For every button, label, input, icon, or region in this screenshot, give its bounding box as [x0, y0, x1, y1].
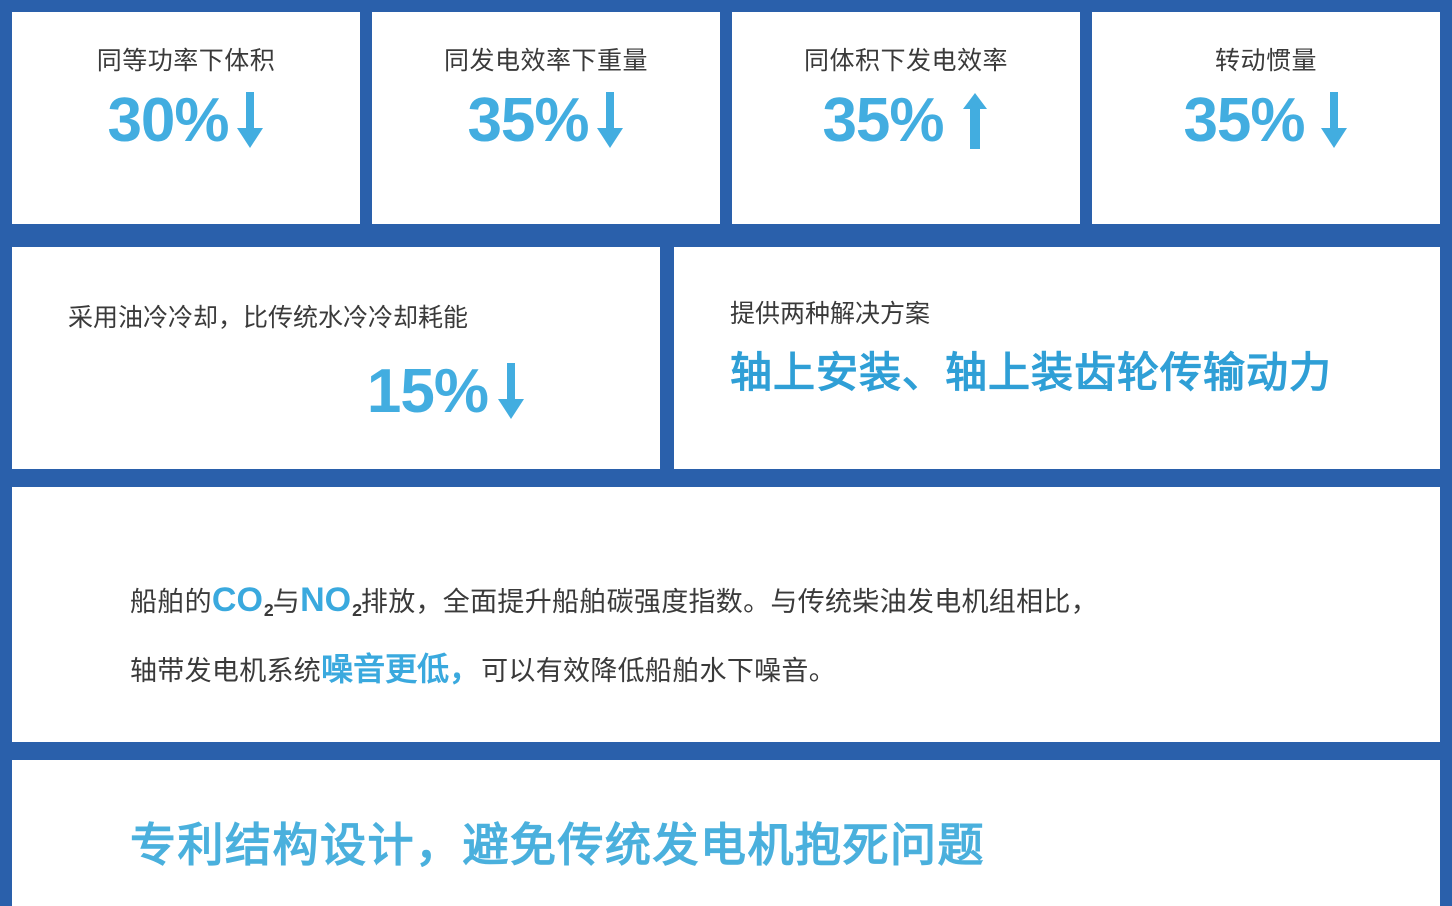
kpi-value: 35% [1183, 90, 1304, 152]
kpi-label: 转动惯量 [1215, 46, 1317, 76]
kpi-value: 35% [822, 90, 943, 152]
kpi-value: 35% [467, 90, 588, 152]
infographic-root: 同等功率下体积 30% 同发电效率下重量 35% 同体积下发电效率 35% 转动… [0, 0, 1452, 906]
kpi-value-row: 35% [467, 90, 624, 152]
kpi-label: 同发电效率下重量 [444, 46, 648, 76]
no2-formula: NO2 [300, 581, 361, 619]
arrow-up-icon [960, 90, 990, 152]
arrow-down-icon [235, 90, 265, 152]
cooling-card: 采用油冷冷却，比传统水冷冷却耗能 15% [12, 247, 660, 469]
no2-symbol: NO [300, 581, 351, 619]
paragraph-line-1: 船舶的CO2与NO2排放，全面提升船舶碳强度指数。与传统柴油发电机组相比， [130, 565, 1400, 636]
kpi-card-weight: 同发电效率下重量 35% [372, 12, 720, 224]
kpi-card-efficiency: 同体积下发电效率 35% [732, 12, 1080, 224]
kpi-label: 同等功率下体积 [97, 46, 276, 76]
paragraph-card: 船舶的CO2与NO2排放，全面提升船舶碳强度指数。与传统柴油发电机组相比， 轴带… [12, 487, 1440, 742]
kpi-card-inertia: 转动惯量 35% [1092, 12, 1440, 224]
solutions-label: 提供两种解决方案 [730, 299, 1440, 329]
co2-subscript: 2 [264, 600, 274, 620]
para-middle: 与 [273, 587, 300, 617]
co2-symbol: CO [212, 581, 263, 619]
cooling-value-row: 15% [68, 361, 616, 423]
para2-prefix: 轴带发电机系统 [130, 656, 321, 686]
arrow-down-icon [595, 90, 625, 152]
solutions-card: 提供两种解决方案 轴上安装、轴上装齿轮传输动力 [674, 247, 1440, 469]
bottom-headline: 专利结构设计，避免传统发电机抱死问题 [130, 818, 1440, 873]
noise-highlight: 噪音更低， [321, 651, 481, 687]
arrow-down-icon [1319, 90, 1349, 152]
paragraph-line-2: 轴带发电机系统噪音更低，可以有效降低船舶水下噪音。 [130, 636, 1400, 703]
solutions-headline: 轴上安装、轴上装齿轮传输动力 [730, 349, 1440, 397]
cooling-value: 15% [367, 361, 488, 423]
no2-subscript: 2 [352, 600, 362, 620]
cooling-label: 采用油冷冷却，比传统水冷冷却耗能 [68, 303, 616, 333]
kpi-value-row: 35% [822, 90, 989, 152]
kpi-value: 30% [107, 90, 228, 152]
para-suffix: 排放，全面提升船舶碳强度指数。与传统柴油发电机组相比， [361, 587, 1098, 617]
co2-formula: CO2 [212, 581, 273, 619]
para-prefix: 船舶的 [130, 587, 212, 617]
bottom-card: 专利结构设计，避免传统发电机抱死问题 [12, 760, 1440, 906]
arrow-down-icon [496, 361, 526, 423]
kpi-value-row: 30% [107, 90, 264, 152]
kpi-value-row: 35% [1183, 90, 1348, 152]
kpi-card-volume: 同等功率下体积 30% [12, 12, 360, 224]
kpi-label: 同体积下发电效率 [804, 46, 1008, 76]
para2-suffix: 可以有效降低船舶水下噪音。 [481, 656, 836, 686]
